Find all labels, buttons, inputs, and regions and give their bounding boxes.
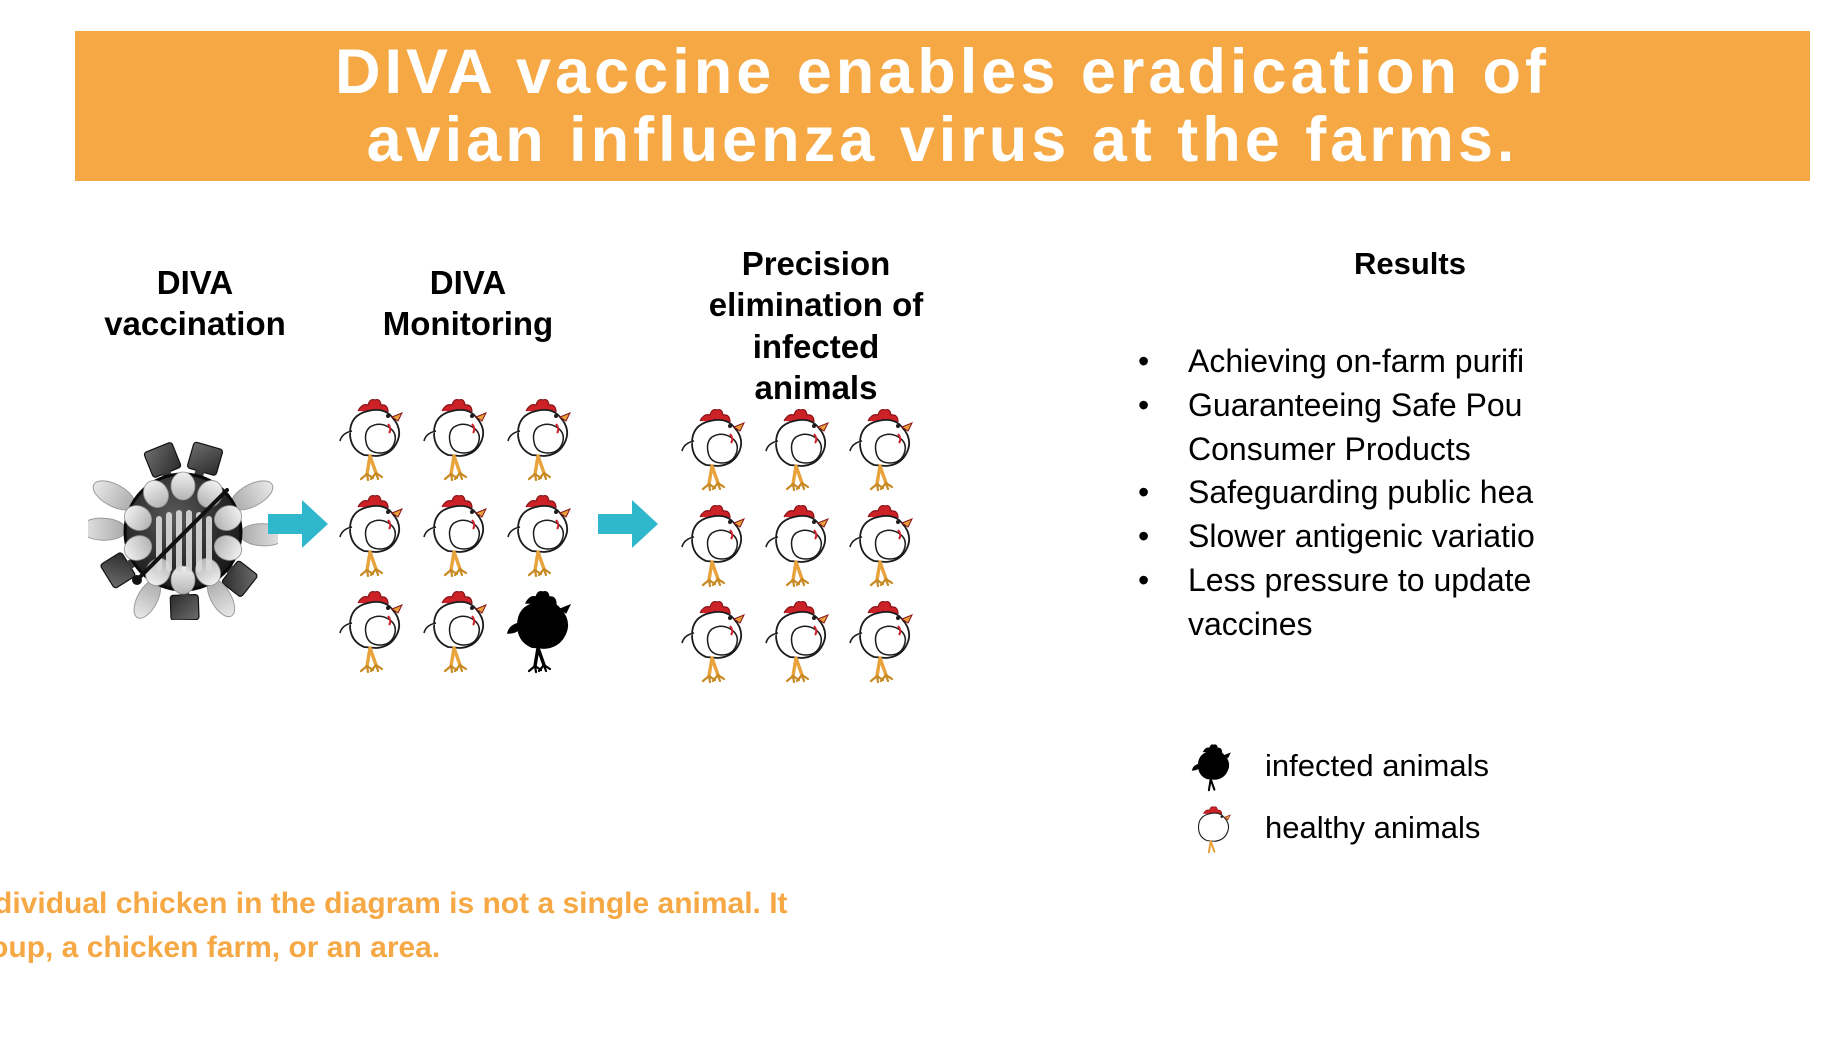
bullet-icon: • <box>1138 559 1149 603</box>
page-title: DIVA vaccine enables eradication of avia… <box>75 38 1810 174</box>
list-item: • Less pressure to update <box>1130 559 1836 603</box>
list-item-label: Safeguarding public hea <box>1188 474 1533 510</box>
chicken-healthy <box>336 587 418 682</box>
step-label-monitoring: DIVA Monitoring <box>368 262 568 345</box>
chicken-healthy <box>504 491 586 586</box>
list-item-continuation: Consumer Products <box>1130 428 1836 472</box>
list-item-label: Achieving on-farm purifi <box>1188 343 1524 379</box>
white-chicken-icon <box>1180 804 1250 862</box>
chicken-healthy <box>336 395 418 490</box>
step-label-elimination: Precision elimination of infected animal… <box>688 243 944 408</box>
chicken-infected <box>504 587 586 682</box>
results-heading: Results <box>1290 245 1530 284</box>
legend-item-healthy: healthy animals <box>1180 804 1700 866</box>
results-bullet-list: • Achieving on-farm purifi • Guaranteein… <box>1130 340 1836 647</box>
chicken-healthy <box>678 405 760 500</box>
bullet-icon: • <box>1138 471 1149 515</box>
note-line-1: s:The individual chicken in the diagram … <box>0 882 1185 926</box>
title-line-2: avian influenza virus at the farms. <box>85 106 1800 174</box>
bullet-icon: • <box>1138 340 1149 384</box>
right-arrow-icon-2 <box>598 498 660 555</box>
legend-item-infected: infected animals <box>1180 742 1700 804</box>
list-item: • Slower antigenic variatio <box>1130 515 1836 559</box>
chicken-healthy <box>420 491 502 586</box>
title-line-1: DIVA vaccine enables eradication of <box>85 38 1800 106</box>
title-banner: DIVA vaccine enables eradication of avia… <box>75 31 1810 181</box>
legend-label: healthy animals <box>1265 810 1480 846</box>
diagram-note: s:The individual chicken in the diagram … <box>0 882 1185 969</box>
chicken-flock-elimination <box>678 405 926 685</box>
chicken-healthy <box>846 405 928 500</box>
chicken-healthy <box>846 501 928 596</box>
list-item-label: Guaranteeing Safe Pou <box>1188 387 1522 423</box>
list-item-label: Less pressure to update <box>1188 562 1531 598</box>
list-item: • Achieving on-farm purifi <box>1130 340 1836 384</box>
bullet-icon: • <box>1138 515 1149 559</box>
chicken-healthy <box>762 501 844 596</box>
slide-canvas: DIVA vaccine enables eradication of avia… <box>0 0 1836 1052</box>
chicken-healthy <box>336 491 418 586</box>
chicken-healthy <box>762 597 844 692</box>
chicken-healthy <box>420 395 502 490</box>
note-text-1: The individual chicken in the diagram is… <box>0 887 788 920</box>
influenza-virus-icon <box>88 440 278 620</box>
legend-label: infected animals <box>1265 748 1489 784</box>
black-chicken-icon <box>1180 742 1250 800</box>
list-item: • Guaranteeing Safe Pou <box>1130 384 1836 428</box>
chicken-flock-monitoring <box>336 395 584 685</box>
bullet-icon: • <box>1138 384 1149 428</box>
chicken-healthy <box>420 587 502 682</box>
list-item: • Safeguarding public hea <box>1130 471 1836 515</box>
list-item-label: Slower antigenic variatio <box>1188 518 1535 554</box>
list-item-continuation: vaccines <box>1130 603 1836 647</box>
chicken-healthy <box>678 597 760 692</box>
chicken-healthy <box>762 405 844 500</box>
chicken-healthy <box>504 395 586 490</box>
step-label-vaccination: DIVA vaccination <box>95 262 295 345</box>
chicken-healthy <box>678 501 760 596</box>
legend: infected animals healthy animals <box>1180 742 1700 866</box>
right-arrow-icon-1 <box>268 498 330 555</box>
chicken-healthy <box>846 597 928 692</box>
note-line-2: ents a group, a chicken farm, or an area… <box>0 926 1185 970</box>
